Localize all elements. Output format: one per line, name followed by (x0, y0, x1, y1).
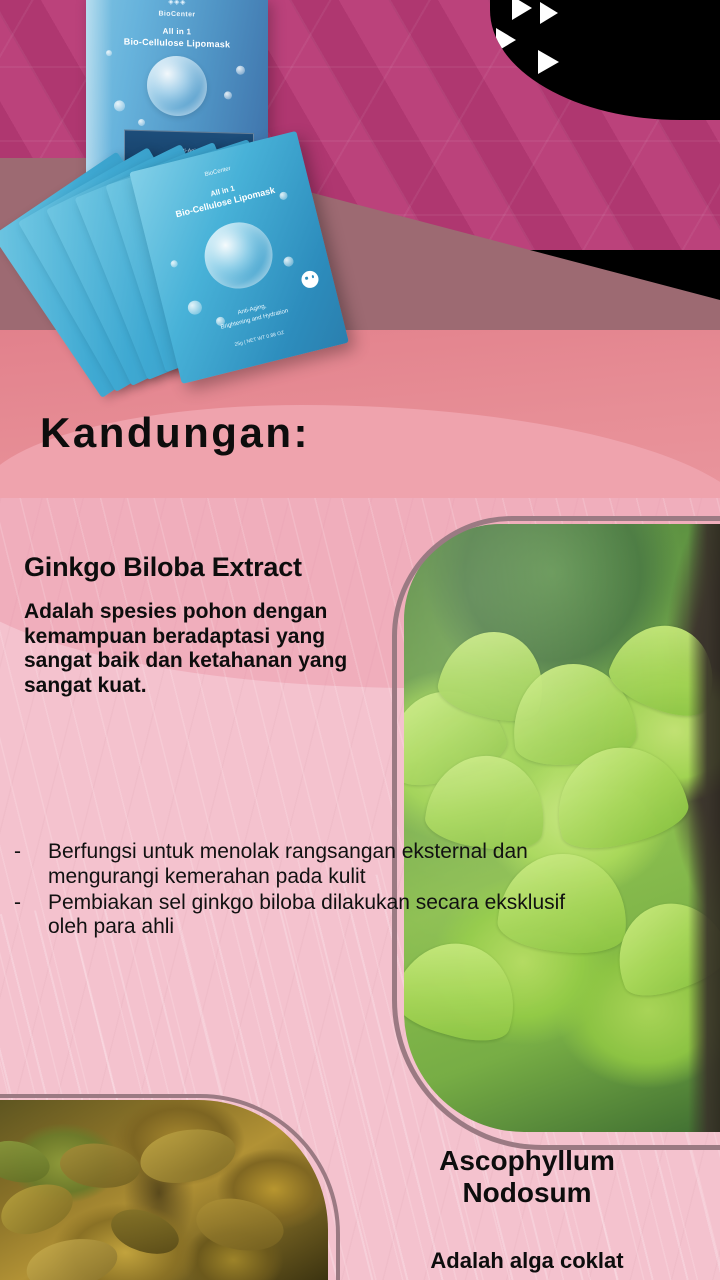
bullet-dash-icon: - (14, 891, 48, 941)
white-triangle-icon (540, 2, 558, 24)
ingredient-description-ginkgo: Adalah spesies pohon dengan kemampuan be… (24, 600, 394, 698)
bubble-icon (170, 260, 178, 268)
white-triangle-icon (538, 50, 559, 74)
ingredient-title-ginkgo: Ginkgo Biloba Extract (24, 552, 302, 583)
bubble-icon (114, 100, 125, 111)
ingredient-description-ascophyllum: Adalah alga coklat (362, 1248, 692, 1274)
bubble-icon (236, 66, 245, 75)
box-water-droplet-graphic (147, 55, 207, 117)
list-item-text: Berfungsi untuk menolak rangsangan ekste… (48, 840, 594, 890)
list-item: - Pembiakan sel ginkgo biloba dilakukan … (14, 891, 594, 941)
bubble-icon (186, 299, 203, 316)
poster-canvas: ◈◈◈ BioCenter All in 1 Bio-Cellulose Lip… (0, 0, 720, 1280)
page-title: Kandungan: (40, 412, 310, 454)
seaweed-photo-block (0, 1100, 342, 1280)
ingredient-title-ascophyllum-line1: Ascophyllum (362, 1145, 692, 1177)
bubble-icon (224, 91, 232, 99)
box-brand-label: BioCenter (86, 8, 268, 20)
box-logo-icon: ◈◈◈ (86, 0, 268, 9)
bubble-icon (282, 256, 294, 268)
face-mask-badge-icon (300, 269, 321, 290)
sachet-water-droplet-graphic (198, 215, 280, 295)
list-item: - Berfungsi untuk menolak rangsangan eks… (14, 840, 594, 890)
bubble-icon (138, 119, 145, 126)
bubble-icon (279, 191, 289, 201)
seaweed-photo-outline (0, 1094, 340, 1280)
bubble-icon (106, 50, 112, 56)
ingredient-title-ascophyllum: Ascophyllum Nodosum (362, 1145, 692, 1208)
ingredient-bullet-list-ginkgo: - Berfungsi untuk menolak rangsangan eks… (14, 840, 594, 941)
white-triangle-icon (496, 28, 516, 52)
ginkgo-photo-block (404, 524, 720, 1134)
white-triangle-icon (512, 0, 532, 20)
list-item-text: Pembiakan sel ginkgo biloba dilakukan se… (48, 891, 594, 941)
bullet-dash-icon: - (14, 840, 48, 890)
sachet-stack: BioCenter All in 1 Bio-Cellulose Lipomas… (96, 166, 496, 396)
ingredient-title-ascophyllum-line2: Nodosum (362, 1177, 692, 1209)
ginkgo-photo-outline (392, 516, 720, 1150)
